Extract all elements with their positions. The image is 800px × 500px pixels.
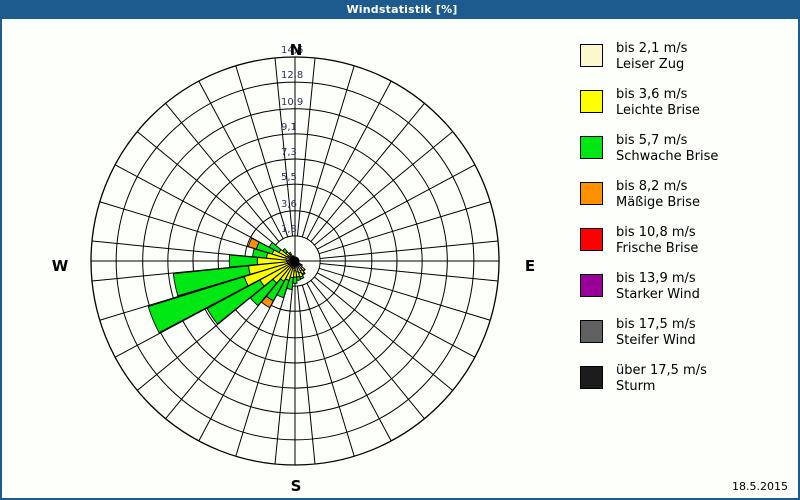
compass-label-west: W <box>40 257 80 275</box>
legend-item-text: bis 17,5 m/sSteifer Wind <box>616 317 696 349</box>
legend-item-text: bis 5,7 m/sSchwache Brise <box>616 133 718 165</box>
color-swatch-icon <box>580 228 603 251</box>
color-swatch-icon <box>580 366 603 389</box>
color-swatch-icon <box>580 44 603 67</box>
radial-tick-label: 12,8 <box>281 70 303 81</box>
grid-spoke <box>275 286 293 464</box>
legend-item-speed: bis 8,2 m/s <box>616 179 700 195</box>
legend-item-speed: über 17,5 m/s <box>616 363 707 379</box>
grid-spoke <box>236 66 288 237</box>
legend-item-name: Steifer Wind <box>616 333 696 349</box>
compass-label-north: N <box>276 41 316 59</box>
color-swatch-icon <box>580 90 603 113</box>
grid-spoke <box>320 263 498 281</box>
compass-label-east: E <box>510 257 550 275</box>
legend-item-speed: bis 13,9 m/s <box>616 271 700 287</box>
rose-center-marker <box>291 257 300 266</box>
radial-tick-label: 5,5 <box>281 172 297 183</box>
radial-tick-label: 10,9 <box>281 97 303 108</box>
legend-item-speed: bis 2,1 m/s <box>616 41 687 57</box>
color-swatch-icon <box>580 182 603 205</box>
window-title-bar: Windstatistik [%] <box>2 0 800 19</box>
color-swatch-icon <box>580 320 603 343</box>
legend-item-name: Mäßige Brise <box>616 195 700 211</box>
legend-item-text: bis 13,9 m/sStarker Wind <box>616 271 700 303</box>
legend-item-text: bis 3,6 m/sLeichte Brise <box>616 87 700 119</box>
legend-item[interactable]: bis 13,9 m/sStarker Wind <box>580 271 792 313</box>
grid-spoke <box>236 285 288 456</box>
grid-spoke <box>319 268 490 320</box>
grid-spoke <box>297 58 315 236</box>
color-swatch-icon <box>580 136 603 159</box>
legend-item-speed: bis 5,7 m/s <box>616 133 718 149</box>
windstatistik-window: Windstatistik [%] 1,83,65,57,39,110,912,… <box>0 0 800 500</box>
wind-rose-segment <box>292 256 293 257</box>
radial-tick-label: 3,6 <box>281 199 297 210</box>
legend-item-name: Leichte Brise <box>616 103 700 119</box>
wind-speed-legend: bis 2,1 m/sLeiser Zugbis 3,6 m/sLeichte … <box>580 41 792 409</box>
legend-item[interactable]: bis 2,1 m/sLeiser Zug <box>580 41 792 83</box>
legend-item-name: Leiser Zug <box>616 57 687 73</box>
legend-item-name: Frische Brise <box>616 241 698 257</box>
chart-date-label: 18.5.2015 <box>732 480 788 493</box>
compass-label-south: S <box>276 477 316 495</box>
legend-item-name: Sturm <box>616 379 707 395</box>
grid-spoke <box>320 241 498 259</box>
legend-item[interactable]: bis 5,7 m/sSchwache Brise <box>580 133 792 175</box>
legend-item-speed: bis 3,6 m/s <box>616 87 700 103</box>
legend-item[interactable]: über 17,5 m/sSturm <box>580 363 792 405</box>
grid-spoke <box>319 202 490 254</box>
legend-item-text: bis 2,1 m/sLeiser Zug <box>616 41 687 73</box>
legend-item[interactable]: bis 10,8 m/sFrische Brise <box>580 225 792 267</box>
grid-spoke <box>302 285 354 456</box>
wind-rose-segment <box>297 276 301 280</box>
legend-item-text: bis 10,8 m/sFrische Brise <box>616 225 698 257</box>
legend-item-text: bis 8,2 m/sMäßige Brise <box>616 179 700 211</box>
legend-item-name: Schwache Brise <box>616 149 718 165</box>
legend-item-speed: bis 17,5 m/s <box>616 317 696 333</box>
legend-item[interactable]: bis 8,2 m/sMäßige Brise <box>580 179 792 221</box>
wind-rose-sectors <box>148 238 305 332</box>
radial-tick-label: 7,3 <box>281 147 297 158</box>
wind-rose-plot-area: 1,83,65,57,39,110,912,814,6 N E S W bis … <box>2 19 798 496</box>
wind-rose-chart <box>2 19 562 496</box>
radial-tick-label: 9,1 <box>281 122 297 133</box>
legend-item-speed: bis 10,8 m/s <box>616 225 698 241</box>
page-title: Windstatistik [%] <box>346 3 457 16</box>
legend-item-name: Starker Wind <box>616 287 700 303</box>
color-swatch-icon <box>580 274 603 297</box>
legend-item-text: über 17,5 m/sSturm <box>616 363 707 395</box>
legend-item[interactable]: bis 17,5 m/sSteifer Wind <box>580 317 792 359</box>
rose-origin-dot <box>291 257 300 266</box>
grid-spoke <box>100 202 271 254</box>
legend-item[interactable]: bis 3,6 m/sLeichte Brise <box>580 87 792 129</box>
grid-spoke <box>297 286 315 464</box>
grid-spoke <box>302 66 354 237</box>
radial-tick-label: 1,8 <box>281 224 297 235</box>
